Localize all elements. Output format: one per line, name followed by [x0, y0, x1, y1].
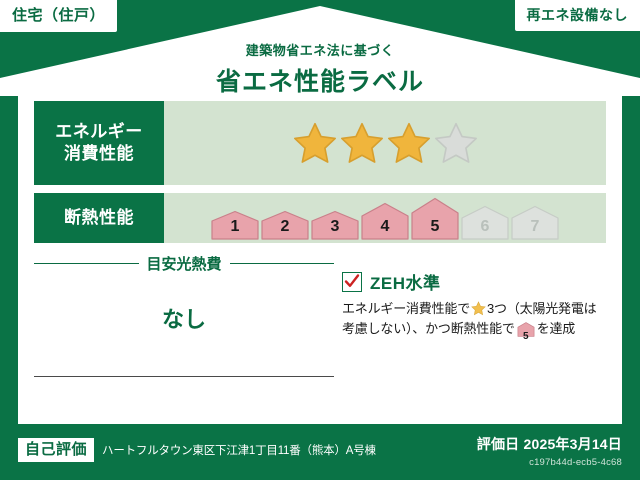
utility-cost-heading: 目安光熱費	[34, 253, 334, 274]
utility-cost-divider	[34, 376, 334, 377]
energy-performance-label: エネルギー 消費性能	[34, 101, 164, 185]
insulation-performance-label: 断熱性能	[34, 193, 164, 243]
insulation-level-1: 1	[211, 210, 259, 240]
insulation-level-value: 1	[211, 219, 259, 235]
insulation-level-3: 3	[311, 210, 359, 240]
property-address: ハートフルタウン東区下江津1丁目11番（熊本）A号棟	[102, 442, 376, 458]
utility-cost-heading-text: 目安光熱費	[147, 253, 222, 274]
energy-label-line2: 消費性能	[64, 144, 134, 163]
evaluation-date-label: 評価日	[477, 436, 520, 452]
label-hash-id: c197b44d-ecb5-4c68	[477, 457, 622, 468]
utility-cost-value: なし	[34, 302, 334, 334]
insulation-badge-inline: 5	[517, 322, 535, 343]
insulation-level-2: 2	[261, 210, 309, 240]
star-icon-empty	[433, 121, 479, 165]
insulation-level-scale: 1234567	[211, 197, 559, 240]
insulation-level-value: 3	[311, 219, 359, 235]
insulation-level-value: 4	[361, 219, 409, 235]
renewable-equipment-badge: 再エネ設備なし	[515, 0, 640, 31]
insulation-performance-row: 断熱性能 1234567	[34, 193, 606, 243]
insulation-level-4: 4	[361, 202, 409, 240]
lower-content: 目安光熱費 なし ZEH水準 エネルギー消費性能で3つ（太陽光発電は考慮しない）…	[34, 243, 606, 377]
footer: 自己評価 ハートフルタウン東区下江津1丁目11番（熊本）A号棟 評価日 2025…	[0, 424, 640, 480]
evaluation-type-badge: 自己評価	[18, 438, 94, 462]
insulation-level-value: 5	[411, 219, 459, 235]
energy-performance-row: エネルギー 消費性能	[34, 101, 606, 185]
star-icon-inline	[471, 301, 486, 316]
insulation-level-value: 2	[261, 219, 309, 235]
insulation-level-7: 7	[511, 205, 559, 240]
zeh-title: ZEH水準	[370, 269, 441, 294]
star-rating	[292, 121, 479, 165]
insulation-badge-inline-value: 5	[517, 332, 535, 342]
evaluation-date-value: 2025年3月14日	[523, 436, 622, 452]
zeh-checkbox[interactable]	[342, 272, 362, 292]
insulation-level-value: 7	[511, 219, 559, 235]
label-card: エネルギー 消費性能 断熱性能 1234567 目安光熱費 なし	[18, 88, 622, 424]
star-icon-filled	[386, 121, 432, 165]
zeh-desc-star-count: 3つ（太陽光発電	[487, 301, 584, 316]
zeh-desc-part1: エネルギー消費性能で	[342, 301, 470, 316]
evaluation-date: 評価日 2025年3月14日	[477, 434, 622, 454]
zeh-section: ZEH水準 エネルギー消費性能で3つ（太陽光発電は考慮しない）、かつ断熱性能で5…	[334, 253, 606, 377]
energy-label-line1: エネルギー	[55, 122, 143, 141]
zeh-description: エネルギー消費性能で3つ（太陽光発電は考慮しない）、かつ断熱性能で5を達成	[342, 299, 606, 343]
energy-performance-value	[164, 101, 606, 185]
zeh-desc-part3: を達成	[537, 321, 575, 336]
insulation-level-5: 5	[411, 197, 459, 240]
footer-left-group: 自己評価 ハートフルタウン東区下江津1丁目11番（熊本）A号棟	[18, 438, 376, 462]
insulation-level-value: 6	[461, 219, 509, 235]
star-icon-filled	[339, 121, 385, 165]
check-icon	[344, 273, 360, 290]
zeh-heading: ZEH水準	[342, 269, 606, 294]
dwelling-type-badge: 住宅（住戸）	[0, 0, 117, 32]
footer-right-group: 評価日 2025年3月14日 c197b44d-ecb5-4c68	[477, 434, 622, 468]
insulation-level-6: 6	[461, 205, 509, 240]
utility-cost-section: 目安光熱費 なし	[34, 253, 334, 377]
star-icon-filled	[292, 121, 338, 165]
insulation-performance-value: 1234567	[164, 193, 606, 243]
